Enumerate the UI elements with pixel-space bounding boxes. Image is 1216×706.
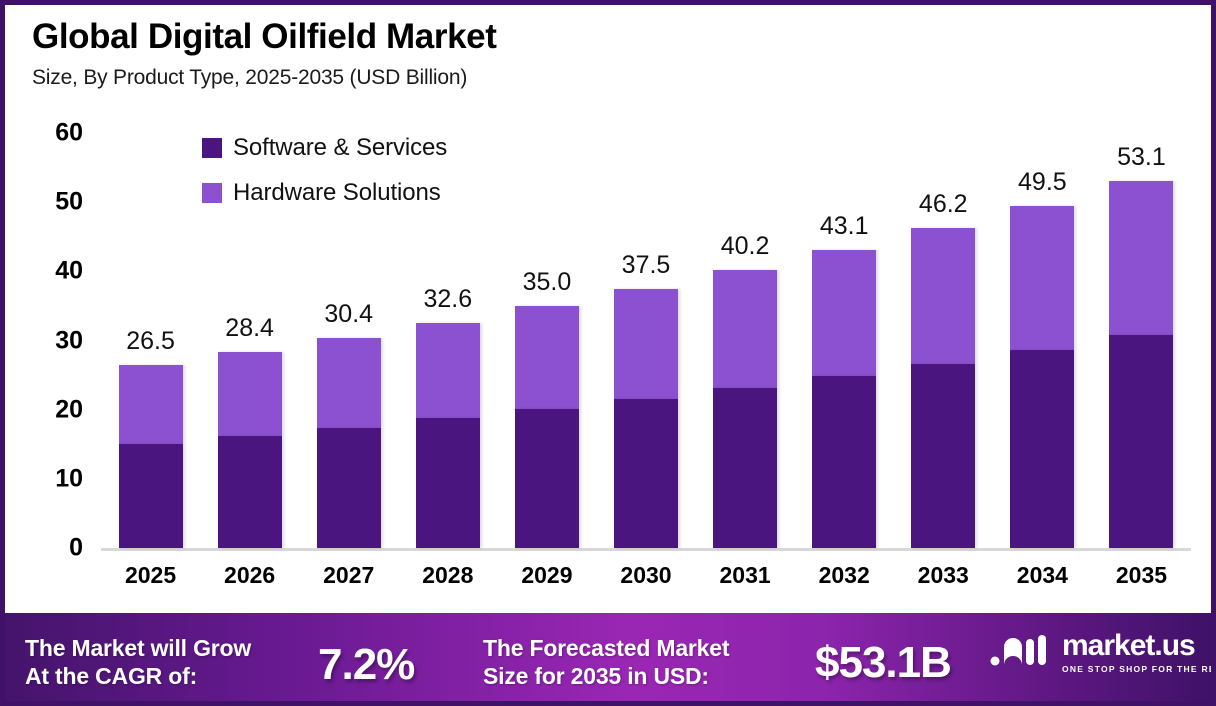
bar-segment-software-services[interactable]: [911, 364, 975, 548]
bar-segment-software-services[interactable]: [1010, 350, 1074, 549]
bar-stack[interactable]: 46.22033: [911, 228, 975, 548]
bar-segment-software-services[interactable]: [416, 418, 480, 548]
x-axis-tick-label: 2031: [719, 562, 770, 589]
bar-stack[interactable]: 30.42027: [317, 338, 381, 548]
bar-segment-software-services[interactable]: [218, 436, 282, 548]
footer-banner: The Market will Grow At the CAGR of: 7.2…: [5, 613, 1211, 701]
bar-total-label: 32.6: [423, 285, 472, 314]
x-axis-tick-label: 2028: [422, 562, 473, 589]
bar-total-label: 43.1: [820, 212, 869, 241]
x-axis-tick-label: 2029: [521, 562, 572, 589]
bar-total-label: 53.1: [1117, 143, 1166, 172]
x-axis-line: [101, 548, 1191, 551]
bar-segment-hardware-solutions[interactable]: [218, 352, 282, 436]
bar-total-label: 46.2: [919, 190, 968, 219]
x-axis-tick-label: 2025: [125, 562, 176, 589]
bar-segment-hardware-solutions[interactable]: [515, 306, 579, 409]
cagr-value: 7.2%: [318, 640, 414, 690]
bar-segment-hardware-solutions[interactable]: [1109, 181, 1173, 335]
forecast-size-label: The Forecasted Market Size for 2035 in U…: [483, 634, 729, 690]
bar-stack[interactable]: 49.52034: [1010, 206, 1074, 548]
bar-segment-hardware-solutions[interactable]: [119, 365, 183, 445]
y-axis-tick-label: 30: [13, 326, 83, 355]
logo-tagline: ONE STOP SHOP FOR THE REPORTS: [1062, 664, 1211, 674]
bar-segment-hardware-solutions[interactable]: [614, 289, 678, 399]
cagr-label: The Market will Grow At the CAGR of:: [25, 634, 251, 690]
y-axis-tick-label: 0: [13, 534, 83, 563]
bar-segment-hardware-solutions[interactable]: [317, 338, 381, 428]
logo-wordmark: market.us: [1062, 631, 1211, 661]
bar-segment-software-services[interactable]: [614, 399, 678, 548]
x-axis-tick-label: 2030: [620, 562, 671, 589]
header: Global Digital Oilfield Market Size, By …: [32, 19, 496, 90]
y-axis-tick-label: 60: [13, 119, 83, 148]
x-axis-tick-label: 2027: [323, 562, 374, 589]
bar-total-label: 28.4: [225, 314, 274, 343]
bar-total-label: 26.5: [126, 327, 175, 356]
bar-total-label: 49.5: [1018, 168, 1067, 197]
bar-segment-software-services[interactable]: [713, 388, 777, 548]
bar-stack[interactable]: 28.42026: [218, 352, 282, 548]
bar-segment-hardware-solutions[interactable]: [713, 270, 777, 388]
bar-stack[interactable]: 53.12035: [1109, 181, 1173, 548]
x-axis-tick-label: 2033: [918, 562, 969, 589]
bar-stack[interactable]: 37.52030: [614, 289, 678, 548]
bar-stack[interactable]: 32.62028: [416, 323, 480, 548]
y-axis-tick-label: 10: [13, 464, 83, 493]
y-axis-tick-label: 20: [13, 395, 83, 424]
y-axis-tick-label: 40: [13, 257, 83, 286]
bar-segment-software-services[interactable]: [515, 409, 579, 548]
bar-segment-hardware-solutions[interactable]: [1010, 206, 1074, 350]
bar-segment-software-services[interactable]: [812, 376, 876, 548]
market-us-logo[interactable]: market.us ONE STOP SHOP FOR THE REPORTS: [990, 631, 1211, 674]
forecast-size-value: $53.1B: [815, 638, 951, 688]
bar-stack[interactable]: 26.52025: [119, 365, 183, 548]
y-axis-tick-label: 50: [13, 188, 83, 217]
logo-text: market.us ONE STOP SHOP FOR THE REPORTS: [1062, 631, 1211, 674]
bar-stack[interactable]: 40.22031: [713, 270, 777, 548]
x-axis-tick-label: 2035: [1116, 562, 1167, 589]
x-axis-tick-label: 2026: [224, 562, 275, 589]
chart-plot-area: 0102030405060 26.5202528.4202630.4202732…: [101, 133, 1191, 548]
bar-segment-software-services[interactable]: [119, 444, 183, 548]
bar-segment-software-services[interactable]: [1109, 335, 1173, 548]
page-title: Global Digital Oilfield Market: [32, 19, 496, 54]
bar-stack[interactable]: 43.12032: [812, 250, 876, 548]
bar-stack[interactable]: 35.02029: [515, 306, 579, 548]
bar-segment-software-services[interactable]: [317, 428, 381, 548]
page-subtitle: Size, By Product Type, 2025-2035 (USD Bi…: [32, 66, 496, 90]
bar-total-label: 37.5: [622, 251, 671, 280]
bar-segment-hardware-solutions[interactable]: [812, 250, 876, 377]
bar-total-label: 35.0: [523, 268, 572, 297]
market-us-bars-logo-icon: [990, 633, 1052, 672]
bar-segment-hardware-solutions[interactable]: [416, 323, 480, 418]
infographic-frame: Global Digital Oilfield Market Size, By …: [0, 0, 1216, 706]
bar-total-label: 40.2: [721, 232, 770, 261]
bar-segment-hardware-solutions[interactable]: [911, 228, 975, 364]
x-axis-tick-label: 2032: [819, 562, 870, 589]
x-axis-tick-label: 2034: [1017, 562, 1068, 589]
bar-total-label: 30.4: [324, 300, 373, 329]
